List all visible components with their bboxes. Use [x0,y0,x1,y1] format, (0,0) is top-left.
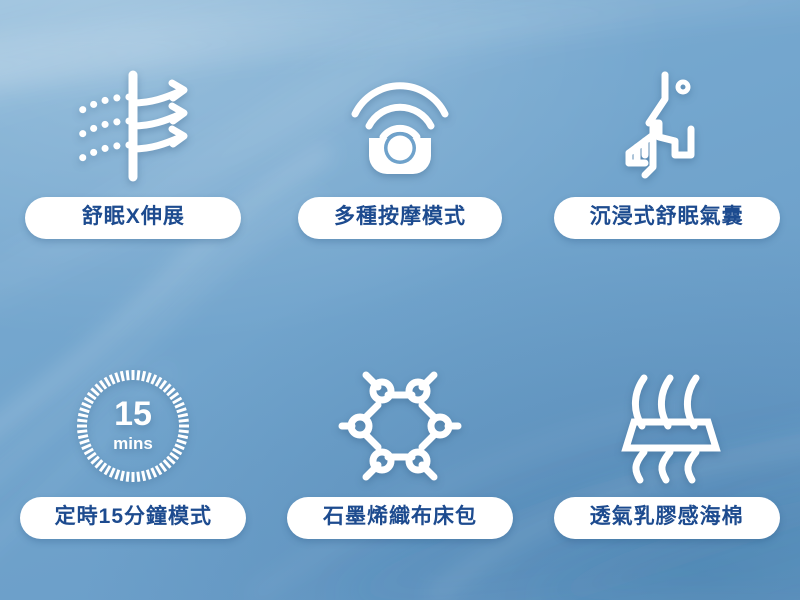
feature-label-text: 沉浸式舒眠氣囊 [576,206,758,228]
feature-label-pill[interactable]: 定時15分鐘模式 [20,497,246,539]
feature-item-graphene-fabric-bed-cover[interactable]: 石墨烯織布床包 [267,300,534,600]
head-airbag-icon [619,61,715,191]
feature-item-breathable-latex-foam[interactable]: 透氣乳膠感海棉 [533,300,800,600]
features-grid: 舒眠X伸展 多種按摩模式 [0,0,800,600]
feature-item-timer-15-min-mode[interactable]: 15 mins 定時15分鐘模式 [0,300,267,600]
airflow-stretch-icon [67,61,199,191]
feature-item-multi-massage-modes[interactable]: 多種按摩模式 [267,0,534,300]
feature-item-sleep-x-stretch[interactable]: 舒眠X伸展 [0,0,267,300]
feature-label-pill[interactable]: 舒眠X伸展 [25,197,241,239]
breathable-foam-icon [604,361,730,491]
feature-label-pill[interactable]: 石墨烯織布床包 [287,497,513,539]
feature-label-pill[interactable]: 沉浸式舒眠氣囊 [554,197,780,239]
timer-unit: mins [113,434,153,453]
feature-label-text: 定時15分鐘模式 [42,506,224,528]
feature-label-pill[interactable]: 透氣乳膠感海棉 [554,497,780,539]
timer-15-mins-icon: 15 mins [74,361,192,491]
feature-label-text: 多種按摩模式 [320,206,480,228]
feature-label-text: 石墨烯織布床包 [309,506,491,528]
feature-grid-poster: 舒眠X伸展 多種按摩模式 [0,0,800,600]
graphene-hexagon-icon [344,361,456,491]
feature-label-pill[interactable]: 多種按摩模式 [298,197,502,239]
massage-wave-icon [345,61,455,191]
feature-label-text: 舒眠X伸展 [47,206,219,228]
feature-item-immersive-sleep-airbag[interactable]: 沉浸式舒眠氣囊 [533,0,800,300]
timer-value: 15 [114,395,152,433]
feature-label-text: 透氣乳膠感海棉 [576,506,758,528]
